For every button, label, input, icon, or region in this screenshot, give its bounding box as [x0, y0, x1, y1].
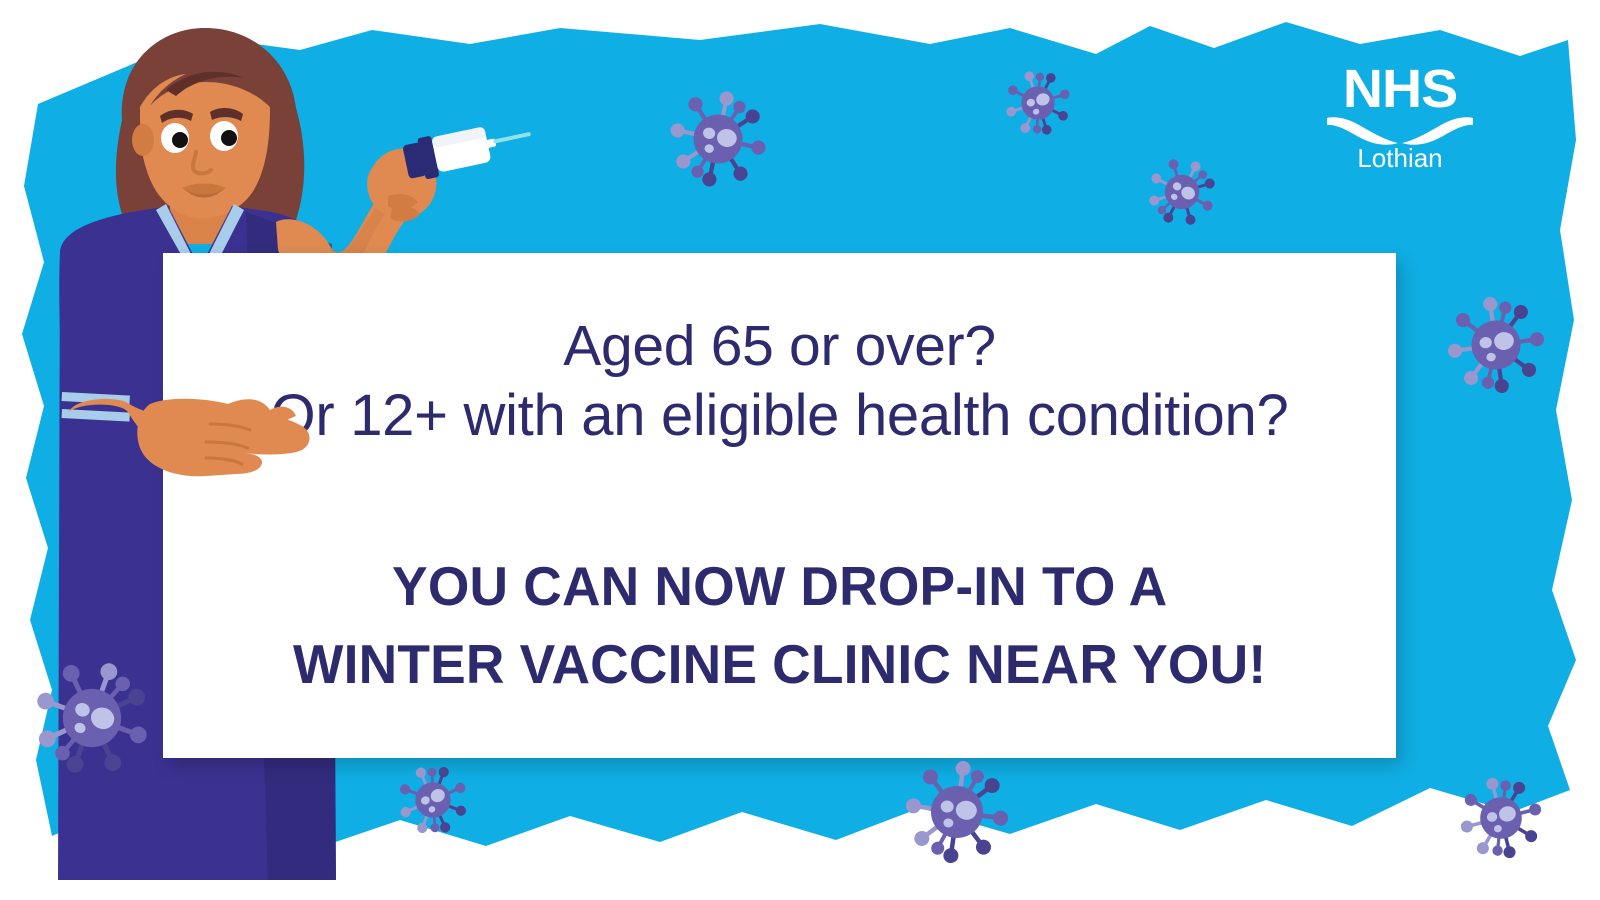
nhs-wordmark: NHS [1323, 62, 1478, 116]
nhs-swoosh-icon [1325, 116, 1475, 148]
board-name: Lothian [1325, 144, 1475, 172]
nhs-lothian-winter-vaccine-poster: Aged 65 or over? Or 12+ with an eligible… [0, 0, 1600, 900]
nhs-swoosh-right [1402, 117, 1473, 144]
nhs-lothian-logo: NHS Lothian [1325, 62, 1475, 182]
nhs-swoosh-left [1327, 117, 1398, 144]
